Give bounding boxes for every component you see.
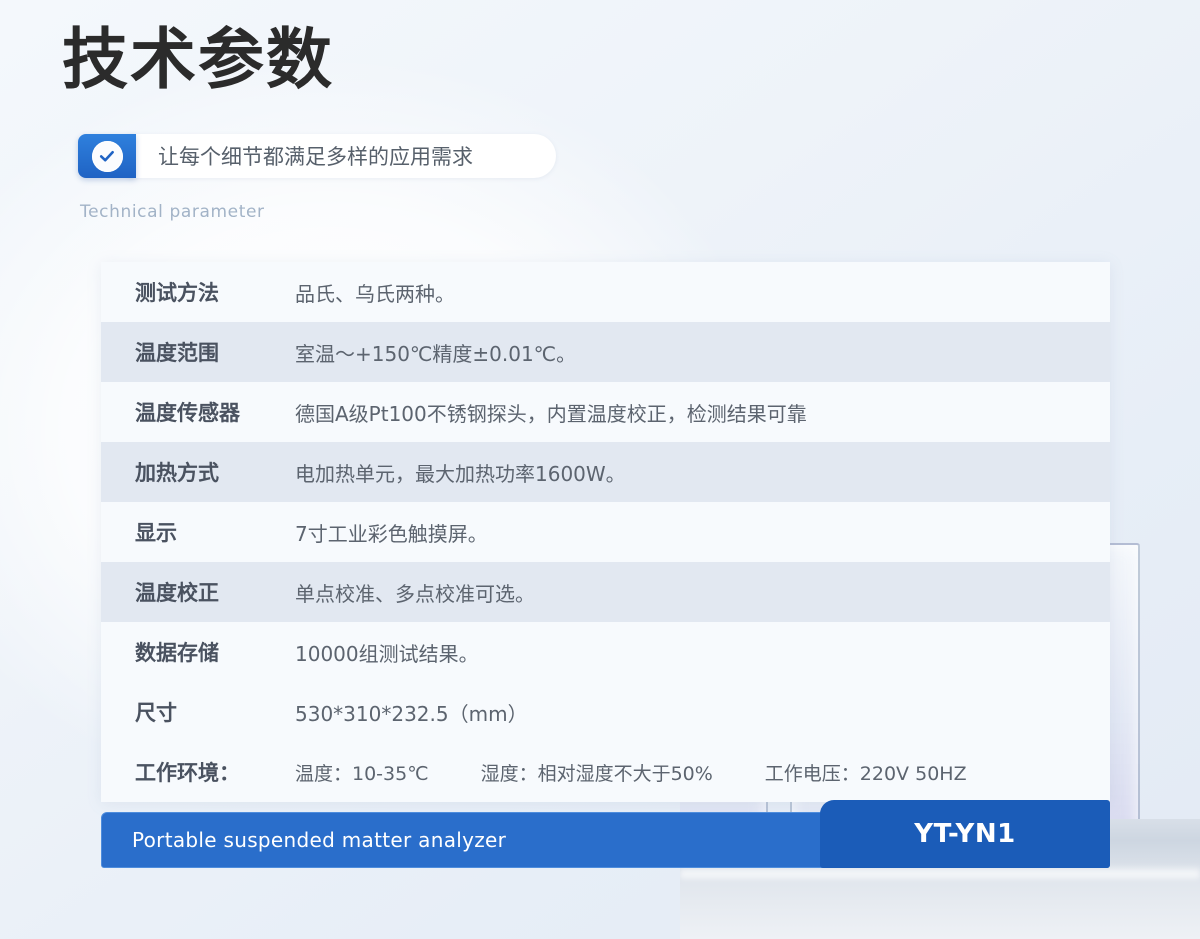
row-value: 品氏、乌氏两种。: [295, 278, 455, 307]
english-subtitle: Technical parameter: [80, 202, 265, 222]
environment-segment: 工作电压：220V 50HZ: [765, 759, 967, 786]
row-value: 室温～+150℃精度±0.01℃。: [295, 338, 576, 367]
tagline-pill: 让每个细节都满足多样的应用需求: [126, 134, 556, 178]
row-label: 尺寸: [135, 697, 295, 727]
row-value: 电加热单元，最大加热功率1600W。: [295, 458, 626, 487]
table-row: 温度范围室温～+150℃精度±0.01℃。: [101, 322, 1110, 382]
product-name-text: Portable suspended matter analyzer: [132, 828, 506, 852]
table-row: 加热方式电加热单元，最大加热功率1600W。: [101, 442, 1110, 502]
table-row: 温度传感器德国A级Pt100不锈钢探头，内置温度校正，检测结果可靠: [101, 382, 1110, 442]
row-label: 温度校正: [135, 577, 295, 607]
row-value: 530*310*232.5（mm）: [295, 698, 528, 727]
row-label: 数据存储: [135, 637, 295, 667]
row-value: 德国A级Pt100不锈钢探头，内置温度校正，检测结果可靠: [295, 398, 807, 427]
table-row: 测试方法品氏、乌氏两种。: [101, 262, 1110, 322]
table-row: 尺寸530*310*232.5（mm）: [101, 682, 1110, 742]
environment-segments: 温度：10-35℃湿度：相对湿度不大于50%工作电压：220V 50HZ: [295, 759, 967, 786]
row-label: 工作环境：: [135, 757, 295, 787]
row-value: 7寸工业彩色触摸屏。: [295, 518, 488, 547]
row-label: 显示: [135, 517, 295, 547]
row-label: 加热方式: [135, 457, 295, 487]
spec-table: 测试方法品氏、乌氏两种。温度范围室温～+150℃精度±0.01℃。温度传感器德国…: [101, 262, 1110, 802]
check-circle-inner: [92, 141, 123, 172]
table-row: 显示7寸工业彩色触摸屏。: [101, 502, 1110, 562]
model-text: YT-YN1: [914, 819, 1015, 849]
page-title: 技术参数: [62, 27, 334, 93]
table-row-environment: 工作环境： 温度：10-35℃湿度：相对湿度不大于50%工作电压：220V 50…: [101, 742, 1110, 802]
tagline-row: 让每个细节都满足多样的应用需求: [78, 134, 556, 178]
check-circle-icon: [78, 134, 136, 178]
row-label: 测试方法: [135, 277, 295, 307]
row-label: 温度传感器: [135, 397, 295, 427]
row-value: 单点校准、多点校准可选。: [295, 578, 535, 607]
table-row: 数据存储10000组测试结果。: [101, 622, 1110, 682]
technical-parameters-page: 技术参数 让每个细节都满足多样的应用需求 Technical parameter…: [0, 0, 1200, 939]
environment-segment: 温度：10-35℃: [295, 759, 429, 786]
model-badge: YT-YN1: [820, 800, 1110, 868]
environment-segment: 湿度：相对湿度不大于50%: [481, 759, 713, 786]
tagline-text: 让每个细节都满足多样的应用需求: [158, 141, 473, 171]
row-value: 10000组测试结果。: [295, 638, 479, 667]
table-row: 温度校正单点校准、多点校准可选。: [101, 562, 1110, 622]
row-label: 温度范围: [135, 337, 295, 367]
